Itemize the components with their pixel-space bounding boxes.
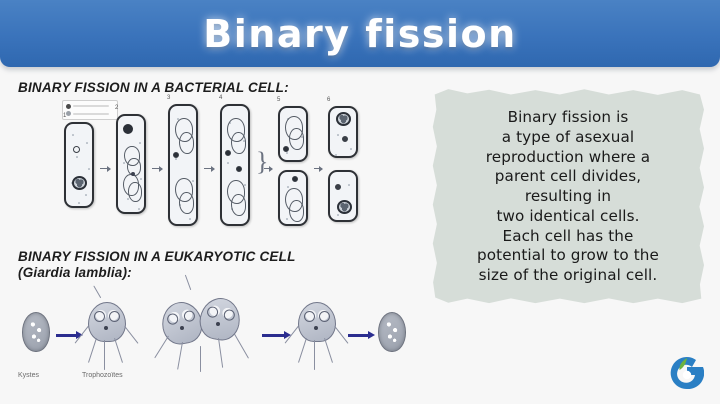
bacterial-cell bbox=[116, 114, 146, 214]
process-arrow bbox=[56, 334, 78, 337]
stage-number: 1 bbox=[63, 113, 66, 119]
legend-dot-icon bbox=[66, 104, 71, 109]
stage-arrow bbox=[152, 168, 162, 169]
plasmid-icon bbox=[335, 184, 341, 190]
diagram-legend bbox=[62, 100, 118, 120]
plasmid-icon bbox=[292, 176, 298, 182]
bacterial-stage-2: 2 bbox=[116, 114, 146, 214]
bacterial-stage-5: 5 bbox=[278, 106, 308, 226]
definition-panel: Binary fission is a type of asexual repr… bbox=[432, 88, 704, 304]
bacterial-stage-4: 4 bbox=[220, 104, 250, 226]
cyst-label: Kystes bbox=[18, 372, 39, 379]
stage-number: 4 bbox=[219, 95, 222, 101]
nucleoid-icon bbox=[336, 112, 351, 126]
definition-text: Binary fission is a type of asexual repr… bbox=[477, 108, 659, 286]
bacterial-cell bbox=[328, 170, 358, 222]
page-title: Binary fission bbox=[203, 12, 516, 56]
stage-number: 6 bbox=[327, 97, 330, 103]
bacterial-cell bbox=[278, 106, 308, 162]
bacterial-stage-3: 3 bbox=[168, 104, 198, 226]
stage-number: 2 bbox=[115, 105, 118, 111]
bacterial-fission-diagram: 1 2 3 bbox=[58, 100, 378, 235]
stage-arrow bbox=[264, 168, 272, 169]
giardia-trophozoite bbox=[294, 296, 340, 372]
nucleoid-icon bbox=[337, 200, 352, 214]
plasmid-icon bbox=[225, 150, 231, 156]
stage-number: 3 bbox=[167, 95, 170, 101]
bacterial-stage-1: 1 bbox=[64, 122, 94, 208]
bacterial-cell bbox=[168, 104, 198, 226]
bacterial-section-heading: BINARY FISSION IN A BACTERIAL CELL: bbox=[18, 80, 289, 95]
plasmid-icon bbox=[173, 152, 179, 158]
division-brace: } bbox=[256, 152, 263, 173]
giardia-cyst bbox=[378, 312, 406, 352]
legend-dot2-icon bbox=[66, 111, 71, 116]
plasmid-icon bbox=[342, 136, 348, 142]
bacterial-cell bbox=[220, 104, 250, 226]
eukaryotic-section-subheading: (Giardia lamblia): bbox=[18, 265, 132, 280]
plasmid-icon bbox=[236, 166, 242, 172]
trophozoite-label: Trophozoïtes bbox=[82, 372, 123, 379]
page-header: Binary fission bbox=[0, 0, 720, 67]
bacterial-cell bbox=[328, 106, 358, 158]
eukaryotic-section-heading: BINARY FISSION IN A EUKARYOTIC CELL bbox=[18, 249, 296, 264]
nucleoid-icon bbox=[72, 176, 87, 190]
giardia-cyst bbox=[22, 312, 50, 352]
plasmid-icon bbox=[73, 146, 80, 153]
process-arrow bbox=[348, 334, 370, 337]
giardia-fission-diagram: Kystes Trophozoïtes bbox=[10, 288, 430, 388]
stage-number: 5 bbox=[277, 97, 280, 103]
biologyonline-logo[interactable] bbox=[670, 356, 704, 390]
nucleoid-icon bbox=[123, 124, 133, 134]
process-arrow bbox=[262, 334, 286, 337]
stage-arrow bbox=[100, 168, 110, 169]
bacterial-stage-6: 6 bbox=[328, 106, 358, 222]
stage-arrow bbox=[204, 168, 214, 169]
stage-arrow bbox=[314, 168, 322, 169]
bacterial-cell bbox=[278, 170, 308, 226]
bacterial-cell bbox=[64, 122, 94, 208]
giardia-dividing-trophozoite bbox=[160, 290, 246, 376]
giardia-trophozoite bbox=[84, 296, 130, 372]
plasmid-icon bbox=[283, 146, 289, 152]
